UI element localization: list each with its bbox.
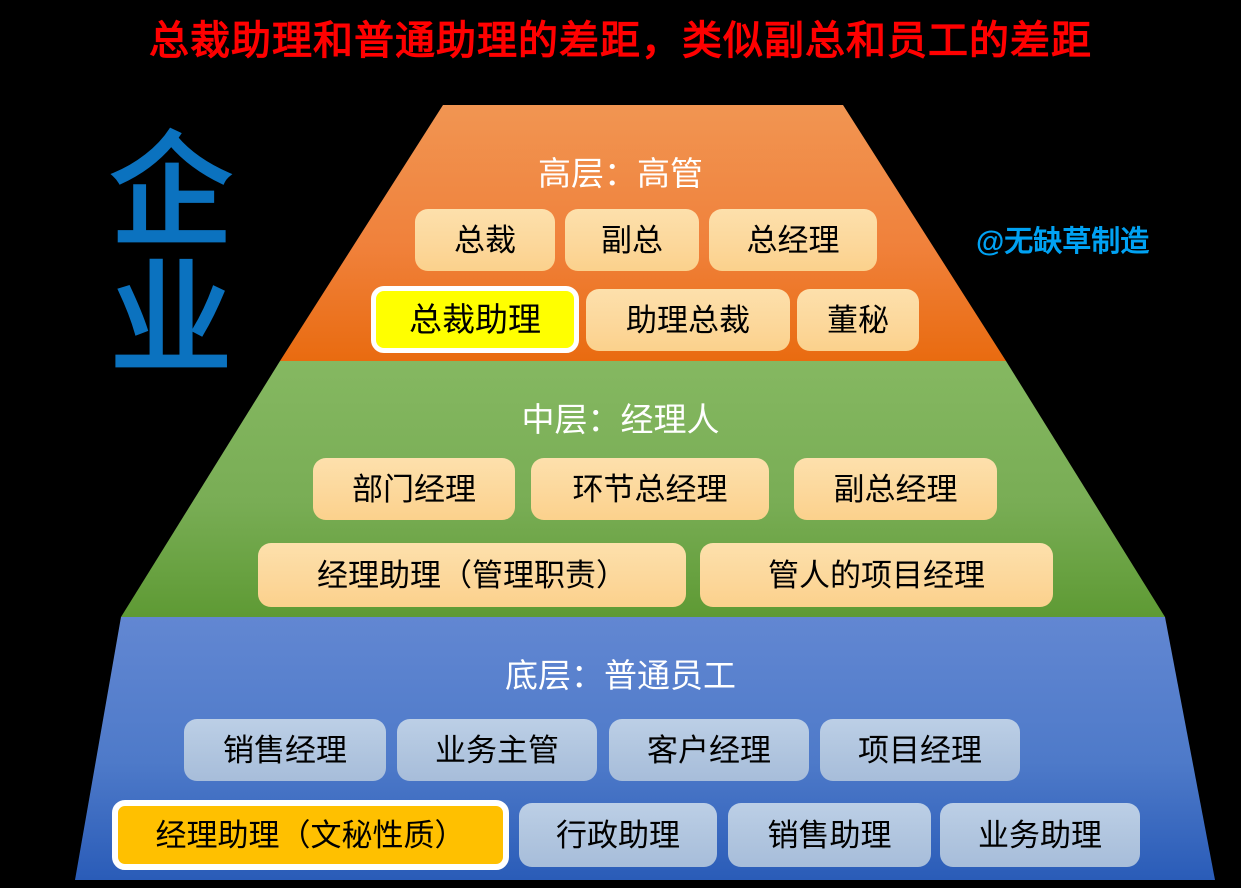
role-box-board-secretary[interactable]: 董秘 bbox=[797, 289, 919, 351]
role-box-manager-assistant-management[interactable]: 经理助理（管理职责） bbox=[258, 543, 686, 607]
role-box-general-manager[interactable]: 总经理 bbox=[709, 209, 877, 271]
role-box-assistant-ceo[interactable]: 助理总裁 bbox=[586, 289, 790, 351]
role-box-ceo[interactable]: 总裁 bbox=[415, 209, 555, 271]
role-box-label: 销售经理 bbox=[223, 735, 347, 766]
pyramid-tier-top: 高层：高管 总裁 副总 总经理 总裁助理 助理总裁 董秘 bbox=[0, 105, 1241, 361]
tier-top-content: 高层：高管 总裁 副总 总经理 总裁助理 助理总裁 董秘 bbox=[0, 105, 1241, 361]
role-box-administrative-assistant[interactable]: 行政助理 bbox=[519, 803, 717, 867]
role-box-department-manager[interactable]: 部门经理 bbox=[313, 458, 515, 520]
role-box-deputy-general-manager[interactable]: 副总经理 bbox=[794, 458, 997, 520]
pyramid-diagram: 高层：高管 总裁 副总 总经理 总裁助理 助理总裁 董秘 bbox=[0, 0, 1241, 888]
tier-bottom-content: 底层：普通员工 销售经理 业务主管 客户经理 项目经理 经理助理（文秘性质） 行… bbox=[0, 617, 1241, 880]
tier-bottom-label: 底层：普通员工 bbox=[0, 649, 1241, 697]
tier-top-label: 高层：高管 bbox=[0, 147, 1241, 195]
role-box-manager-assistant-secretarial-highlighted[interactable]: 经理助理（文秘性质） bbox=[112, 800, 509, 870]
role-box-label: 行政助理 bbox=[556, 820, 680, 851]
role-box-business-assistant[interactable]: 业务助理 bbox=[940, 803, 1140, 867]
role-box-label: 副总经理 bbox=[834, 474, 958, 505]
role-box-client-manager[interactable]: 客户经理 bbox=[609, 719, 809, 781]
role-box-sales-manager[interactable]: 销售经理 bbox=[184, 719, 386, 781]
role-box-label: 销售助理 bbox=[768, 820, 892, 851]
role-box-project-manager[interactable]: 项目经理 bbox=[820, 719, 1020, 781]
role-box-label: 管人的项目经理 bbox=[768, 560, 985, 591]
role-box-label: 业务主管 bbox=[435, 735, 559, 766]
role-box-label: 董秘 bbox=[827, 305, 889, 336]
role-box-label: 总经理 bbox=[747, 225, 840, 256]
pyramid-tier-bottom: 底层：普通员工 销售经理 业务主管 客户经理 项目经理 经理助理（文秘性质） 行… bbox=[0, 617, 1241, 880]
role-box-label: 经理助理（管理职责） bbox=[317, 560, 627, 591]
role-box-label: 业务助理 bbox=[978, 820, 1102, 851]
role-box-people-project-manager[interactable]: 管人的项目经理 bbox=[700, 543, 1053, 607]
role-box-label: 部门经理 bbox=[352, 474, 476, 505]
tier-middle-content: 中层：经理人 部门经理 环节总经理 副总经理 经理助理（管理职责） 管人的项目经… bbox=[0, 361, 1241, 617]
role-box-ceo-assistant-highlighted[interactable]: 总裁助理 bbox=[371, 286, 579, 353]
role-box-label: 总裁 bbox=[454, 225, 516, 256]
role-box-label: 副总 bbox=[601, 225, 663, 256]
role-box-label: 项目经理 bbox=[858, 735, 982, 766]
role-box-vice-president[interactable]: 副总 bbox=[565, 209, 699, 271]
role-box-label: 总裁助理 bbox=[409, 303, 541, 336]
role-box-label: 客户经理 bbox=[647, 735, 771, 766]
role-box-label: 经理助理（文秘性质） bbox=[156, 820, 466, 851]
role-box-business-supervisor[interactable]: 业务主管 bbox=[397, 719, 597, 781]
role-box-label: 助理总裁 bbox=[626, 305, 750, 336]
tier-middle-label: 中层：经理人 bbox=[0, 393, 1241, 441]
role-box-sales-assistant[interactable]: 销售助理 bbox=[728, 803, 931, 867]
role-box-segment-general-manager[interactable]: 环节总经理 bbox=[531, 458, 769, 520]
role-box-label: 环节总经理 bbox=[573, 474, 728, 505]
pyramid-tier-middle: 中层：经理人 部门经理 环节总经理 副总经理 经理助理（管理职责） 管人的项目经… bbox=[0, 361, 1241, 617]
